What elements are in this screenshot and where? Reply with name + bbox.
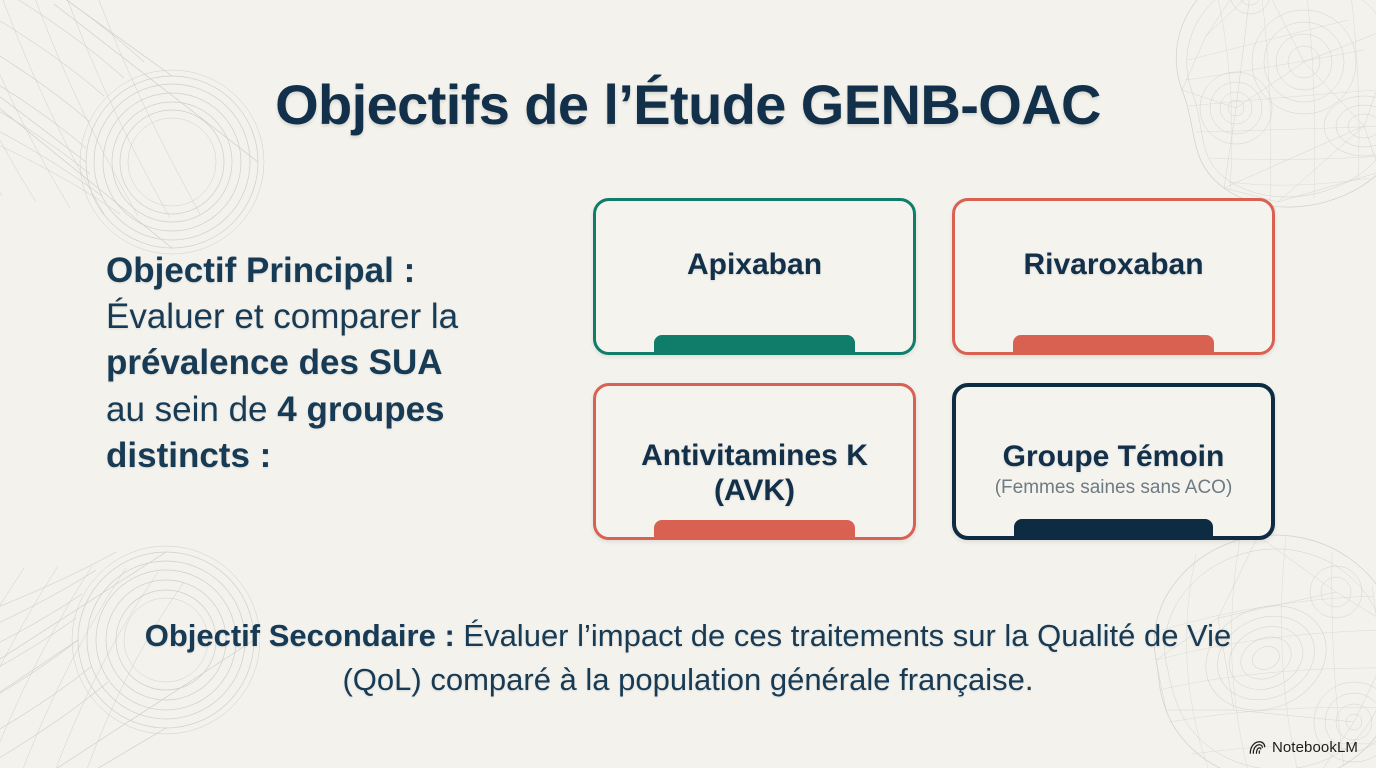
card-groupe-temoin-accent-bar: [1014, 519, 1213, 536]
objectif-principal-emphasis-sua: prévalence des SUA: [106, 343, 443, 382]
notebooklm-watermark-label: NotebookLM: [1272, 739, 1358, 756]
objectif-secondaire-text: Évaluer l’impact de ces traitements sur …: [342, 618, 1231, 697]
card-groupe-temoin[interactable]: Groupe Témoin (Femmes saines sans ACO): [952, 383, 1275, 540]
groupes-card-grid: Apixaban Rivaroxaban Antivitamines K (AV…: [593, 198, 1275, 540]
objectif-principal-line3-prefix: au sein de: [106, 390, 277, 429]
page-title: Objectifs de l’Étude GENB-OAC: [0, 72, 1376, 137]
card-antivitamines-k[interactable]: Antivitamines K (AVK): [593, 383, 916, 540]
card-apixaban-title: Apixaban: [677, 247, 832, 282]
card-rivaroxaban[interactable]: Rivaroxaban: [952, 198, 1275, 355]
card-antivitamines-k-title-line2: (AVK): [704, 473, 805, 508]
objectif-principal-label: Objectif Principal :: [106, 251, 415, 290]
objectif-principal-block: Objectif Principal : Évaluer et comparer…: [106, 248, 536, 479]
objectif-principal-line2: Évaluer et comparer la: [106, 297, 458, 336]
objectif-principal-emphasis-groupes: 4 groupes: [277, 390, 444, 429]
card-apixaban[interactable]: Apixaban: [593, 198, 916, 355]
card-groupe-temoin-subtitle: (Femmes saines sans ACO): [995, 477, 1233, 499]
card-rivaroxaban-accent-bar: [1013, 335, 1214, 352]
card-groupe-temoin-title: Groupe Témoin: [993, 439, 1235, 474]
slide-canvas: Objectifs de l’Étude GENB-OAC Objectif P…: [0, 0, 1376, 768]
objectif-principal-emphasis-distincts: distincts :: [106, 436, 271, 475]
card-antivitamines-k-accent-bar: [654, 520, 855, 537]
objectif-secondaire-block: Objectif Secondaire : Évaluer l’impact d…: [120, 614, 1256, 702]
card-apixaban-accent-bar: [654, 335, 855, 352]
card-rivaroxaban-title: Rivaroxaban: [1013, 247, 1213, 282]
notebooklm-spiral-icon: [1249, 740, 1266, 755]
card-antivitamines-k-title-line1: Antivitamines K: [631, 438, 878, 473]
notebooklm-watermark: NotebookLM: [1249, 739, 1358, 756]
objectif-secondaire-label: Objectif Secondaire :: [145, 618, 455, 653]
